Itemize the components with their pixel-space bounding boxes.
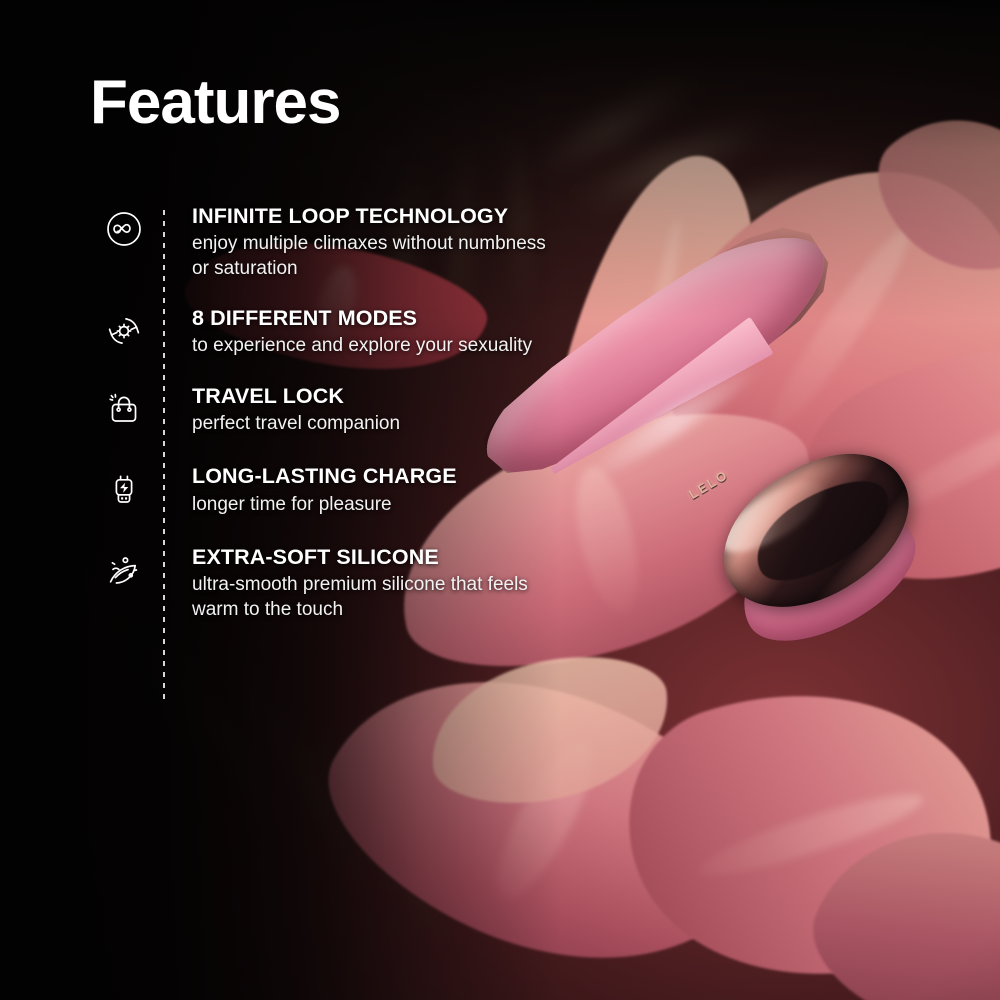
feature-description: perfect travel companion: [192, 411, 400, 436]
feature-item-extra-soft-silicone: EXTRA-SOFT SILICONE ultra-smooth premium…: [88, 545, 688, 623]
feature-description: to experience and explore your sexuality: [192, 333, 532, 358]
feather-soft-icon: [88, 545, 160, 591]
feature-item-travel-lock: TRAVEL LOCK perfect travel companion: [88, 384, 688, 436]
page-title: Features: [90, 72, 340, 134]
feature-description: enjoy multiple climaxes without numbness…: [192, 231, 546, 281]
feature-title: 8 DIFFERENT MODES: [192, 306, 532, 331]
gear-refresh-icon: [88, 306, 160, 352]
feature-title: LONG-LASTING CHARGE: [192, 464, 457, 489]
usb-charge-bolt-icon: [88, 464, 160, 510]
feature-description: longer time for pleasure: [192, 492, 457, 517]
travel-lock-bag-icon: [88, 384, 160, 430]
infinity-circle-icon: [88, 204, 160, 250]
feature-title: INFINITE LOOP TECHNOLOGY: [192, 204, 546, 229]
feature-item-8-different-modes: 8 DIFFERENT MODES to experience and expl…: [88, 306, 688, 358]
feature-item-infinite-loop-technology: INFINITE LOOP TECHNOLOGY enjoy multiple …: [88, 204, 688, 282]
feature-description: ultra-smooth premium silicone that feels…: [192, 572, 528, 622]
product-feature-infographic: LELO Features INFINITE LOOP TECHNOLOGY e…: [0, 0, 1000, 1000]
feature-item-long-lasting-charge: LONG-LASTING CHARGE longer time for plea…: [88, 464, 688, 516]
feature-title: TRAVEL LOCK: [192, 384, 400, 409]
feature-title: EXTRA-SOFT SILICONE: [192, 545, 528, 570]
feature-list: INFINITE LOOP TECHNOLOGY enjoy multiple …: [88, 204, 688, 622]
